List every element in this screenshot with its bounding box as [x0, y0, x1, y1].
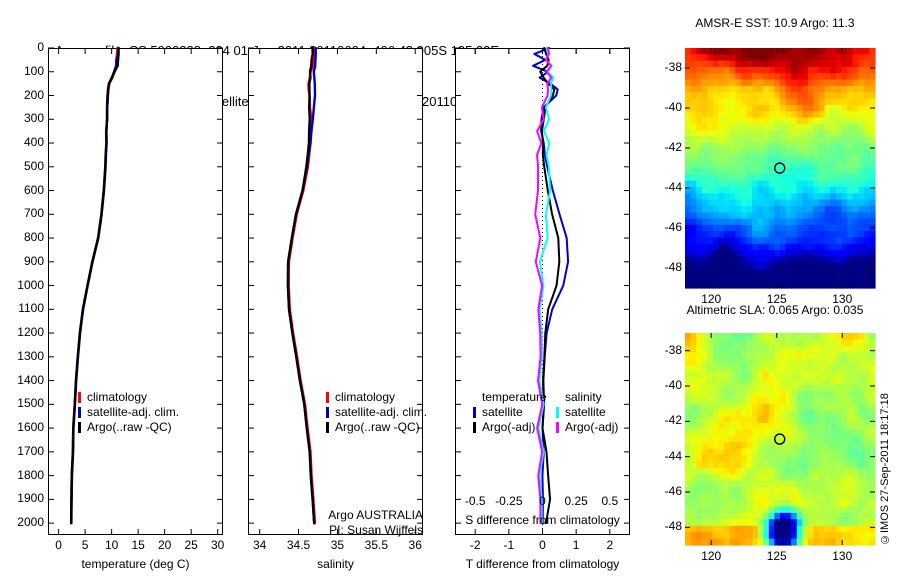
axis-tick-label: 1100 — [4, 301, 44, 315]
legend-color-swatch — [326, 407, 329, 418]
legend-title: temperature — [473, 390, 547, 405]
provenance-note: Argo AUSTRALIA PI: Susan Wijffels — [263, 508, 423, 538]
legend-entry: climatology — [326, 390, 427, 405]
legend-color-swatch — [473, 407, 476, 418]
axis-tick-label: 1400 — [4, 373, 44, 387]
salinity-axis-title: salinity — [248, 557, 423, 571]
legend-entry: satellite — [473, 405, 547, 420]
legend-entry-label: satellite — [482, 405, 523, 420]
difference-legend-salinity: salinitysatelliteArgo(-adj) — [556, 390, 618, 435]
legend-entry: climatology — [78, 390, 179, 405]
legend-color-swatch — [326, 392, 329, 403]
temperature-axis-title: temperature (deg C) — [48, 557, 223, 571]
map-x-tick-label: 120 — [688, 549, 734, 563]
axis-tick-label: 700 — [4, 206, 44, 220]
legend-entry: Argo(..raw -QC) — [326, 420, 427, 435]
legend-entry-label: satellite-adj. clim. — [87, 405, 179, 420]
legend-entry-label: Argo(-adj) — [482, 420, 535, 435]
map-y-tick-label: -42 — [642, 140, 682, 154]
sla-map-title: Altimetric SLA: 0.065 Argo: 0.035 — [660, 303, 890, 317]
axis-tick-label: 1800 — [4, 468, 44, 482]
map-y-tick-label: -48 — [642, 519, 682, 533]
difference-legend-temperature: temperaturesatelliteArgo(-adj) — [473, 390, 547, 435]
legend-color-swatch — [473, 422, 476, 433]
salinity-legend: climatologysatellite-adj. clim.Argo(..ra… — [326, 390, 427, 435]
axis-tick-label: 900 — [4, 254, 44, 268]
legend-color-swatch — [78, 422, 81, 433]
axis-tick-label: 300 — [4, 111, 44, 125]
sst-map-title: AMSR-E SST: 10.9 Argo: 11.3 — [660, 16, 890, 30]
map-y-tick-label: -44 — [642, 449, 682, 463]
axis-tick-label: 1000 — [4, 278, 44, 292]
legend-entry-label: Argo(..raw -QC) — [87, 420, 172, 435]
axis-tick-label: 0.5 — [587, 494, 633, 508]
legend-entry: Argo(..raw -QC) — [78, 420, 179, 435]
map-y-tick-label: -48 — [642, 260, 682, 274]
legend-title-label: salinity — [565, 390, 602, 405]
axis-tick-label: 1900 — [4, 491, 44, 505]
map-y-tick-label: -40 — [642, 378, 682, 392]
pi-label: PI: Susan Wijffels — [263, 523, 423, 538]
axis-tick-label: 200 — [4, 88, 44, 102]
temperature-legend: climatologysatellite-adj. clim.Argo(..ra… — [78, 390, 179, 435]
legend-entry-label: satellite-adj. clim. — [335, 405, 427, 420]
legend-entry-label: Argo(-adj) — [565, 420, 618, 435]
axis-tick-label: 1600 — [4, 420, 44, 434]
axis-tick-label: 1700 — [4, 444, 44, 458]
difference-top-axis-title: S difference from climatology — [455, 513, 630, 527]
imos-credit: ©IMOS 27-Sep-2011 18:17:18 — [879, 375, 891, 545]
map-y-tick-label: -40 — [642, 100, 682, 114]
axis-tick-label: 30 — [195, 538, 241, 552]
map-y-tick-label: -46 — [642, 484, 682, 498]
axis-tick-label: 2000 — [4, 515, 44, 529]
map-y-tick-label: -38 — [642, 343, 682, 357]
axis-tick-label: 400 — [4, 135, 44, 149]
legend-entry: satellite-adj. clim. — [326, 405, 427, 420]
program-label: Argo AUSTRALIA — [263, 508, 423, 523]
legend-entry-label: satellite — [565, 405, 606, 420]
axis-tick-label: 36 — [392, 538, 438, 552]
map-y-tick-label: -38 — [642, 60, 682, 74]
legend-entry-label: climatology — [335, 390, 395, 405]
axis-tick-label: 0 — [4, 40, 44, 54]
legend-color-swatch — [78, 392, 81, 403]
legend-title-label: temperature — [482, 390, 547, 405]
map-y-tick-label: -42 — [642, 413, 682, 427]
legend-color-swatch — [556, 422, 559, 433]
legend-color-swatch — [326, 422, 329, 433]
difference-bottom-axis-title: T difference from climatology — [452, 557, 633, 571]
axis-tick-label: 100 — [4, 64, 44, 78]
map-x-tick-label: 125 — [754, 549, 800, 563]
legend-entry-label: climatology — [87, 390, 147, 405]
map-y-tick-label: -46 — [642, 220, 682, 234]
axis-tick-label: 600 — [4, 183, 44, 197]
axis-tick-label: 1500 — [4, 396, 44, 410]
axis-tick-label: 1300 — [4, 349, 44, 363]
legend-entry: Argo(-adj) — [473, 420, 547, 435]
legend-entry: satellite-adj. clim. — [78, 405, 179, 420]
legend-color-swatch — [78, 407, 81, 418]
legend-title: salinity — [556, 390, 618, 405]
axis-tick-label: 800 — [4, 230, 44, 244]
legend-entry-label: Argo(..raw -QC) — [335, 420, 420, 435]
legend-color-swatch — [556, 407, 559, 418]
axis-tick-label: 1200 — [4, 325, 44, 339]
axis-tick-label: 2 — [587, 538, 633, 552]
map-y-tick-label: -44 — [642, 180, 682, 194]
legend-entry: Argo(-adj) — [556, 420, 618, 435]
legend-entry: satellite — [556, 405, 618, 420]
axis-tick-label: 500 — [4, 159, 44, 173]
map-x-tick-label: 130 — [819, 549, 865, 563]
